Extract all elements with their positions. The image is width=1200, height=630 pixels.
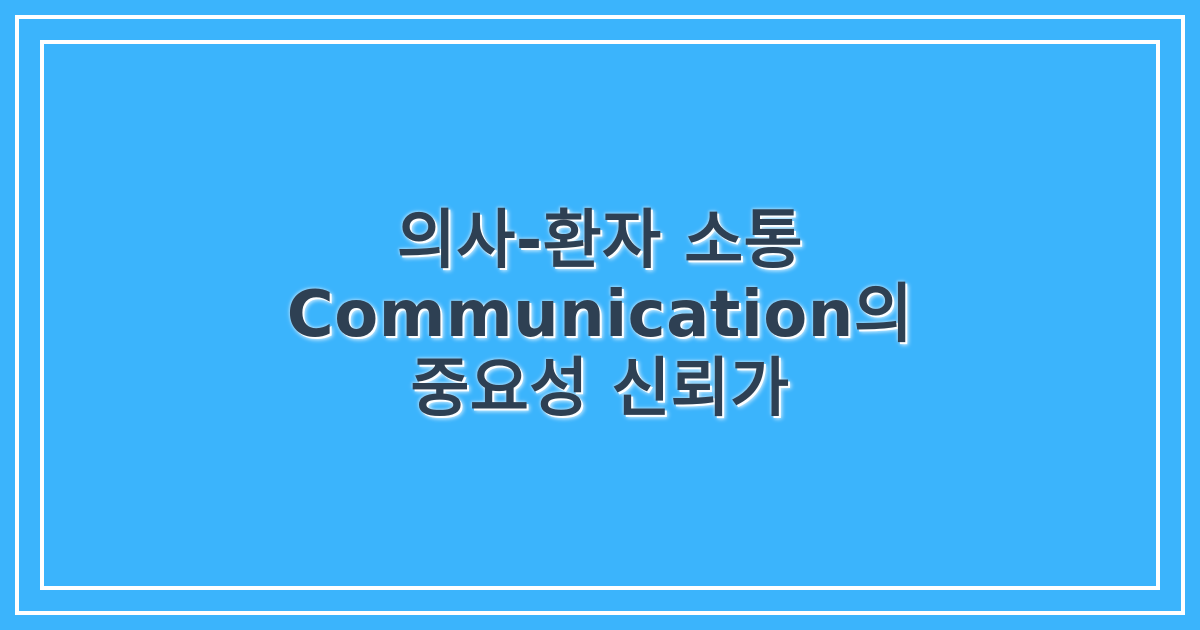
social-card: 의사-환자 소통 Communication의 중요성 신뢰가 [0,0,1200,630]
page-title: 의사-환자 소통 Communication의 중요성 신뢰가 [170,204,1030,426]
title-line-3: 중요성 신뢰가 [190,352,1010,426]
title-line-1: 의사-환자 소통 [190,204,1010,278]
title-line-2: Communication의 [190,278,1010,352]
card-content: 의사-환자 소통 Communication의 중요성 신뢰가 [0,0,1200,630]
